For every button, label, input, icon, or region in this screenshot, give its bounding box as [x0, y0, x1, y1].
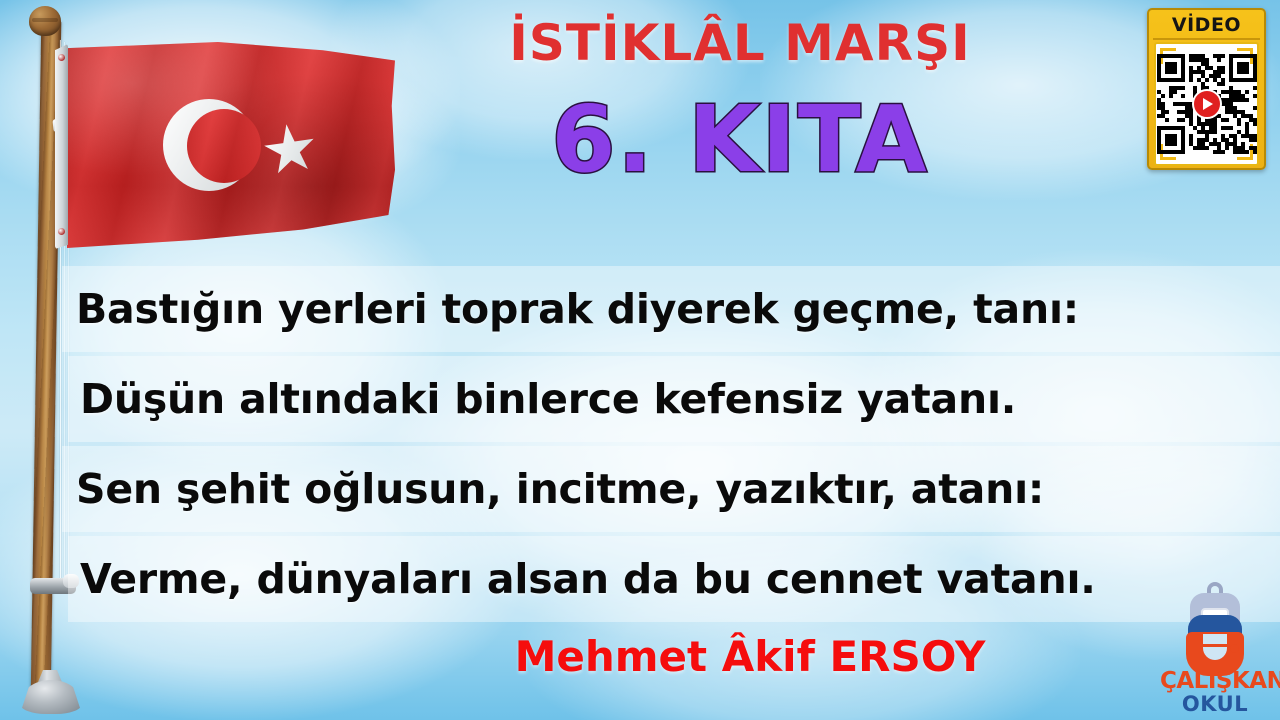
flag-field [67, 42, 395, 248]
crescent-icon [163, 99, 255, 191]
logo-primary-text: ÇALIŞKAN [1160, 668, 1270, 694]
logo-secondary-text: OKUL [1160, 692, 1270, 716]
backpack-strap-line [1203, 644, 1227, 647]
flag-hoist-strip [55, 44, 68, 249]
verse-line: Düşün altındaki binlerce kefensiz yatanı… [68, 356, 1280, 442]
badge-divider [1153, 38, 1260, 40]
verse-text: Verme, dünyaları alsan da bu cennet vata… [80, 555, 1096, 603]
page-title: İSTİKLÂL MARŞI [430, 14, 1050, 72]
verse-text: Bastığın yerleri toprak diyerek geçme, t… [76, 285, 1079, 333]
video-badge-label: VİDEO [1151, 12, 1262, 38]
qr-code-frame[interactable] [1154, 42, 1259, 166]
stanza-heading: 6. KITA [430, 92, 1050, 189]
verse-text: Sen şehit oğlusun, incitme, yazıktır, at… [76, 465, 1044, 513]
verse-line: Bastığın yerleri toprak diyerek geçme, t… [62, 266, 1280, 352]
flagpole-base [20, 680, 82, 714]
slide-canvas: İSTİKLÂL MARŞI 6. KITA VİDEO Bastığın ye… [0, 0, 1280, 720]
author-name: Mehmet Âkif ERSOY [430, 632, 1070, 681]
youtube-play-icon[interactable] [1192, 89, 1222, 119]
verse-line: Sen şehit oğlusun, incitme, yazıktır, at… [62, 446, 1280, 532]
turkish-flag [55, 42, 395, 252]
verse-text: Düşün altındaki binlerce kefensiz yatanı… [80, 375, 1016, 423]
flag-grommet [58, 54, 65, 61]
flag-grommet [58, 228, 65, 235]
backpack-notch [1203, 634, 1227, 660]
flagpole-finial [29, 6, 61, 36]
brand-logo: ÇALIŞKAN OKUL [1160, 582, 1270, 714]
backpack-icon [1184, 582, 1246, 666]
video-qr-badge[interactable]: VİDEO [1147, 8, 1266, 170]
backpack-dot [1230, 644, 1239, 653]
verse-line: Verme, dünyaları alsan da bu cennet vata… [68, 536, 1280, 622]
